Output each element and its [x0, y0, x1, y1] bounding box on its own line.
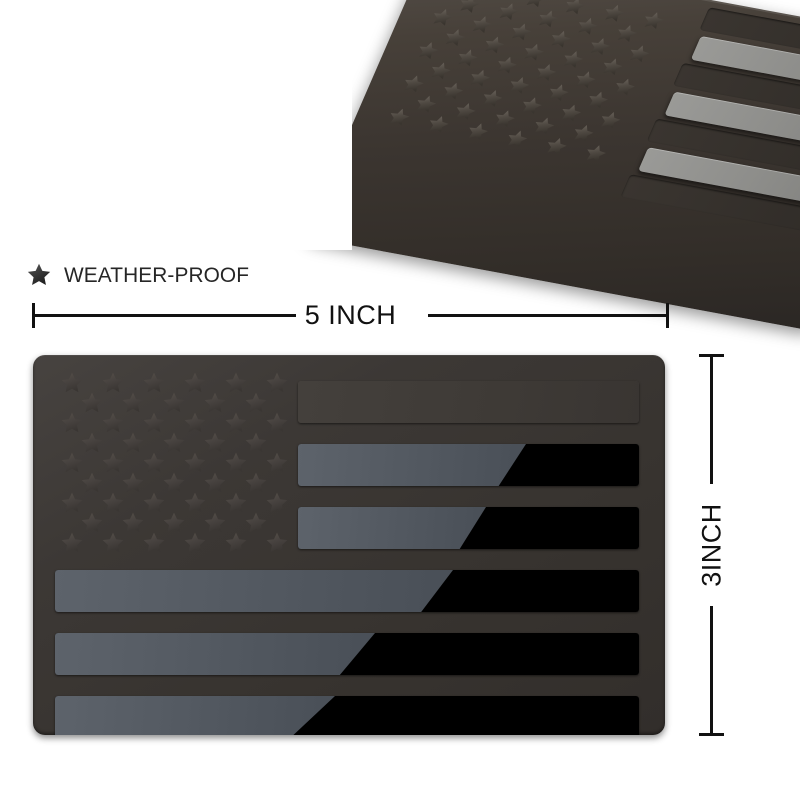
- flag-stripe: [298, 381, 639, 423]
- dimension-cap-bottom: [699, 733, 724, 736]
- dimension-width-label: 5 INCH: [296, 300, 406, 331]
- flag-stripe: [55, 633, 639, 675]
- dimension-rule-top: [710, 356, 713, 484]
- star-icon: [26, 148, 52, 174]
- dimension-height: 3INCH: [695, 354, 729, 736]
- list-item-label: EMBOSSED METAL FLAG: [64, 149, 317, 174]
- stripe-gloss-highlight: [298, 507, 486, 549]
- star-icon: [26, 262, 52, 288]
- stripe-gloss-highlight: [55, 696, 335, 735]
- dimension-cap-right: [666, 303, 669, 328]
- flag-stripe: [298, 444, 639, 486]
- stripe-gloss-highlight: [55, 570, 453, 612]
- flag-stripe: [55, 696, 639, 735]
- title-line-2: SIZE: [33, 54, 337, 100]
- dimension-rule-left: [34, 314, 296, 317]
- stripe-gloss-highlight: [298, 444, 526, 486]
- stripe-base: [298, 381, 639, 423]
- flag-stripe: [55, 570, 639, 612]
- list-item: WEATHER-PROOF: [26, 256, 456, 294]
- star-field-canton: [55, 369, 317, 562]
- title-line-1: PRODUCT: [33, 8, 337, 54]
- dimension-width: 5 INCH: [32, 300, 669, 332]
- dimension-rule-bottom: [710, 606, 713, 734]
- star-icon: [26, 186, 52, 212]
- flag-stripe: [298, 507, 639, 549]
- dimension-height-label: 3INCH: [694, 497, 731, 593]
- star-icon: [26, 224, 52, 250]
- list-item-label: WEATHER-PROOF: [64, 263, 249, 288]
- page-title: PRODUCT SIZE: [33, 8, 337, 100]
- dimension-rule-right: [428, 314, 667, 317]
- product-flag-plate: [33, 355, 665, 735]
- stripe-gloss-highlight: [55, 633, 375, 675]
- product-size-infographic: PRODUCT SIZE EMBOSSED METAL FLAG: [0, 0, 800, 800]
